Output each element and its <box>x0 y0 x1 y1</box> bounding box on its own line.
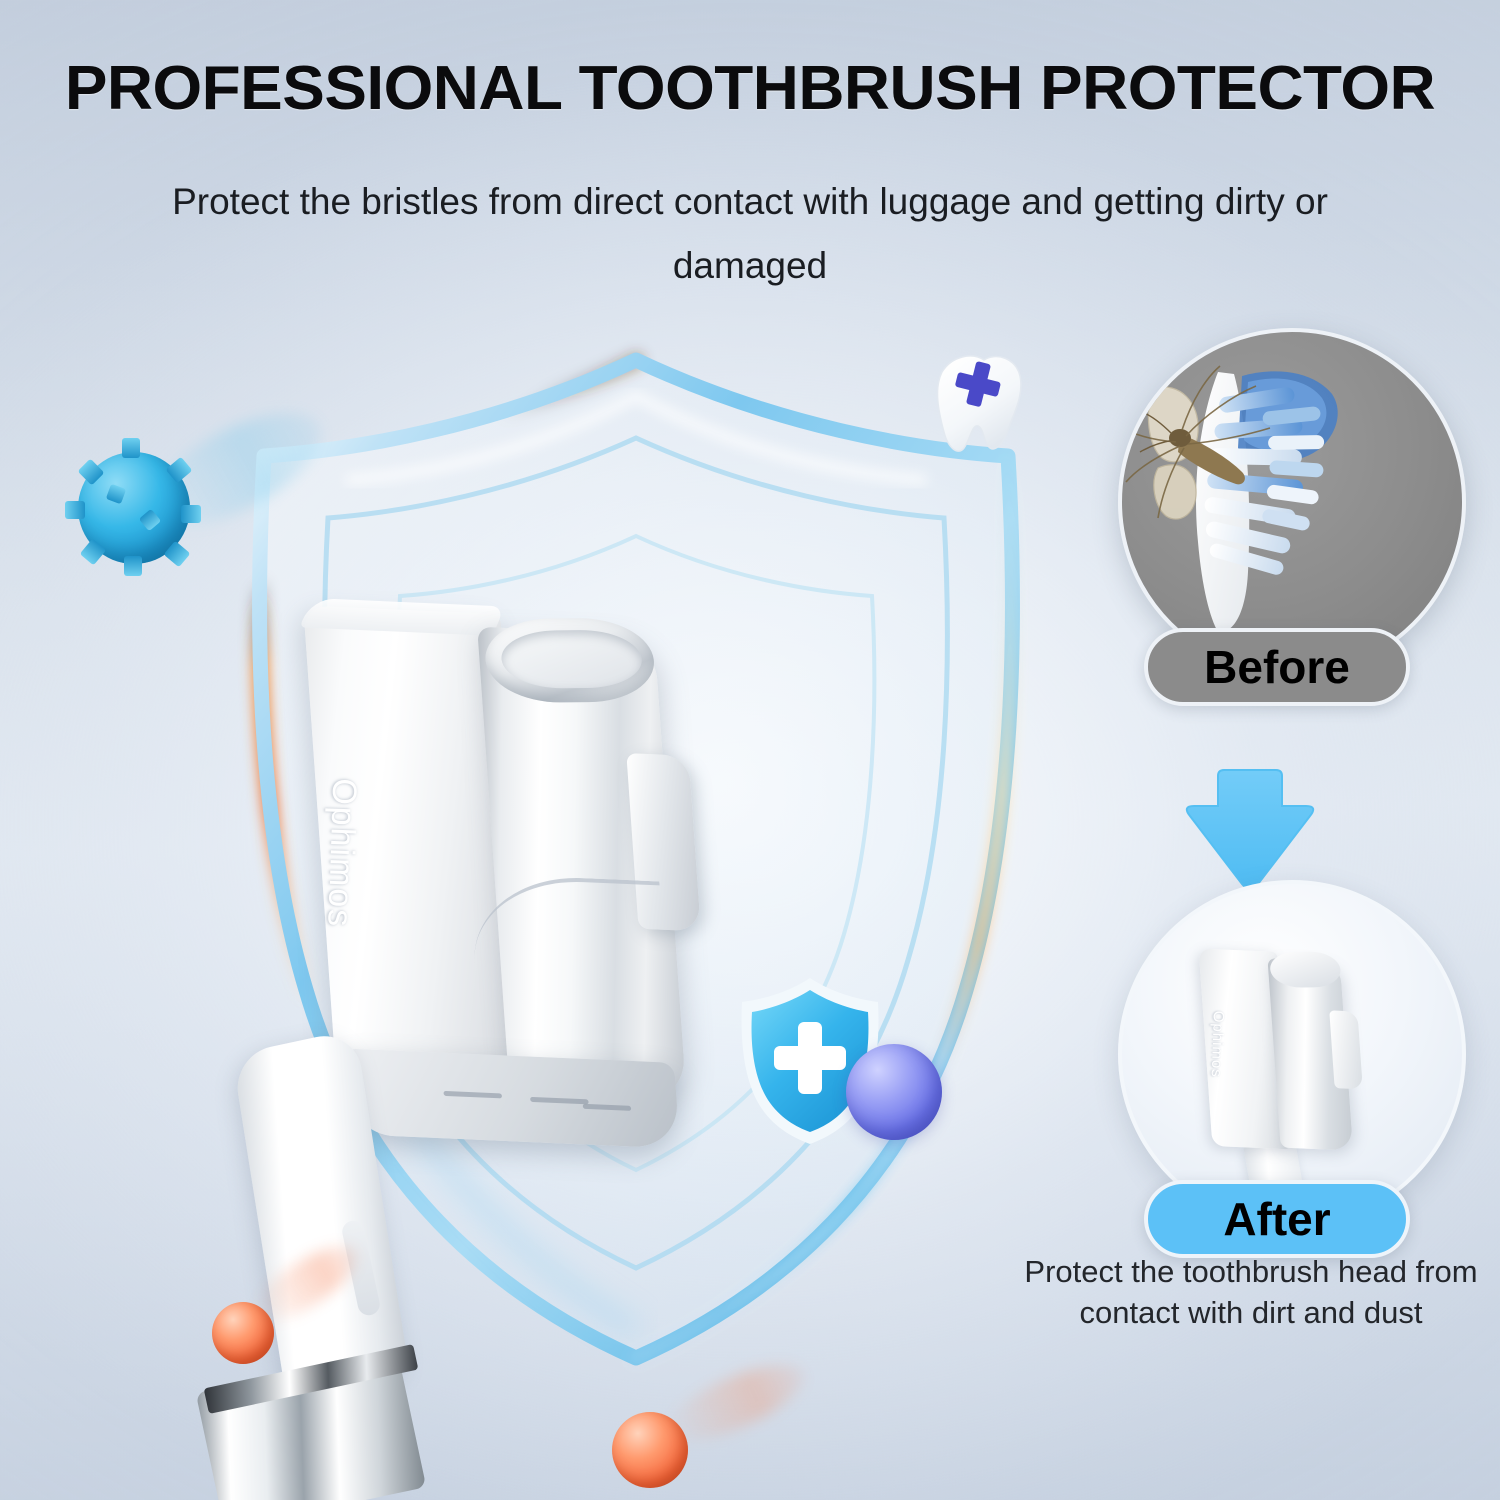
germ-purple-icon <box>846 1044 942 1140</box>
tooth-icon <box>922 348 1032 456</box>
before-label: Before <box>1144 628 1410 706</box>
germ-blue-icon <box>78 452 190 564</box>
product-device-mini: Ophimos <box>1198 930 1404 1173</box>
toothbrush-head-icon <box>1122 332 1466 676</box>
down-arrow-icon <box>1178 762 1322 894</box>
brand-label-mini: Ophimos <box>1208 1010 1227 1078</box>
after-panel: Ophimos After <box>1110 880 1470 1260</box>
before-circle <box>1118 328 1466 676</box>
brand-label: Ophimos <box>319 778 363 929</box>
after-circle: Ophimos <box>1118 880 1466 1228</box>
page-title: PROFESSIONAL TOOTHBRUSH PROTECTOR <box>0 56 1500 121</box>
after-label: After <box>1144 1180 1410 1258</box>
germ-orange-icon <box>612 1412 688 1488</box>
device-rim-inner <box>498 630 645 689</box>
after-caption: Protect the toothbrush head from contact… <box>1010 1252 1492 1334</box>
before-panel: Before <box>1110 328 1470 708</box>
product-infographic: PROFESSIONAL TOOTHBRUSH PROTECTOR Protec… <box>0 0 1500 1500</box>
germ-orange-icon <box>212 1302 274 1364</box>
page-subtitle: Protect the bristles from direct contact… <box>140 170 1360 297</box>
